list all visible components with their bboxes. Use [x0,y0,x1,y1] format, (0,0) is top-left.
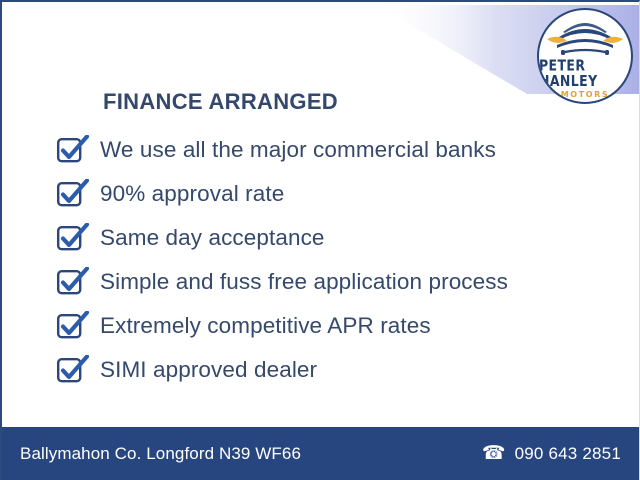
footer-phone-number[interactable]: 090 643 2851 [515,444,621,464]
list-item: Same day acceptance [56,216,616,260]
checkbox-checked-icon [56,223,90,253]
list-item: 90% approval rate [56,172,616,216]
list-item-label: Simple and fuss free application process [100,269,508,295]
checkbox-checked-glyph [56,179,90,209]
list-item: SIMI approved dealer [56,348,616,392]
checkbox-checked-glyph [56,267,90,297]
logo-brand-sub: MOTORS [561,91,610,99]
checkbox-checked-icon [56,311,90,341]
telephone-icon: ☎ [482,444,506,463]
footer-address: Ballymahon Co. Longford N39 WF66 [20,444,301,464]
page-title: FINANCE ARRANGED [103,89,338,115]
checkbox-checked-glyph [56,223,90,253]
logo-brand-name: PETER HANLEY [539,59,631,89]
list-item: We use all the major commercial banks [56,128,616,172]
car-silhouette-icon [545,18,625,60]
list-item-label: SIMI approved dealer [100,357,317,383]
checkbox-checked-glyph [56,135,90,165]
checkbox-checked-glyph [56,311,90,341]
checkbox-checked-icon [56,135,90,165]
checkbox-checked-icon [56,267,90,297]
checkbox-checked-glyph [56,355,90,385]
list-item-label: We use all the major commercial banks [100,137,496,163]
list-item-label: 90% approval rate [100,181,284,207]
checkbox-checked-icon [56,355,90,385]
list-item-label: Extremely competitive APR rates [100,313,431,339]
list-item: Simple and fuss free application process [56,260,616,304]
footer-phone-group[interactable]: ☎ 090 643 2851 [482,444,621,464]
finance-advert-banner: PETER HANLEY MOTORS FINANCE ARRANGED We … [0,0,640,480]
list-item: Extremely competitive APR rates [56,304,616,348]
contact-footer-bar: Ballymahon Co. Longford N39 WF66 ☎ 090 6… [2,427,639,480]
dealer-logo-badge: PETER HANLEY MOTORS [537,8,633,104]
checkbox-checked-icon [56,179,90,209]
list-item-label: Same day acceptance [100,225,325,251]
benefits-list: We use all the major commercial banks 90… [56,128,616,392]
